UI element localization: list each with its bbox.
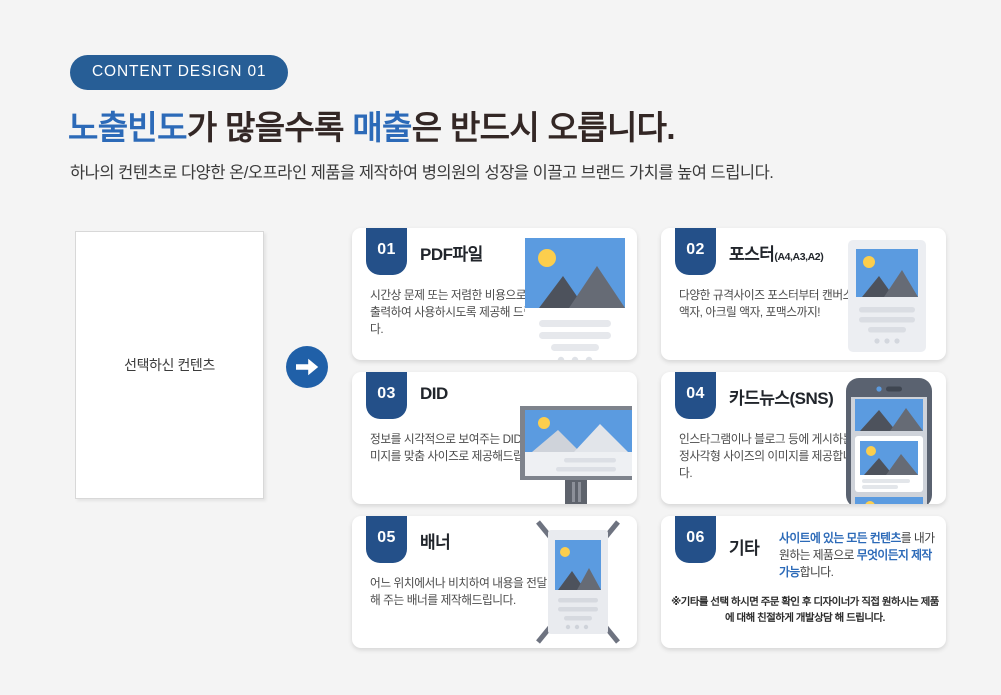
product-card-grid: 01 PDF파일 시간상 문제 또는 저렴한 비용으로 직접 출력하여 사용하시… — [352, 228, 946, 648]
page-subtitle: 하나의 컨텐츠로 다양한 온/오프라인 제품을 제작하여 병의원의 성장을 이끌… — [70, 159, 773, 183]
headline-plain: 은 반드시 오릅니다. — [412, 109, 675, 146]
product-card-02[interactable]: 02 포스터(A4,A3,A2) 다양한 규격사이즈 포스터부터 캔버스 액자,… — [661, 228, 946, 360]
card-title-main: 포스터 — [729, 245, 774, 264]
selected-content-label: 선택하신 컨텐츠 — [76, 355, 263, 375]
product-card-05[interactable]: 05 배너 어느 위치에서나 비치하여 내용을 전달해 주는 배너를 제작해드립… — [352, 516, 637, 648]
headline-plain: 가 많을수록 — [187, 109, 353, 146]
card-highlight-text: 사이트에 있는 모든 컨텐츠를 내가 원하는 제품으로 무엇이든지 제작 가능합… — [779, 530, 939, 580]
product-card-01[interactable]: 01 PDF파일 시간상 문제 또는 저렴한 비용으로 직접 출력하여 사용하시… — [352, 228, 637, 360]
smartphone-icon — [846, 378, 944, 504]
card-description: 인스타그램이나 블로그 등에 게시하는 정사각형 사이즈의 이미지를 제공합니다… — [679, 432, 864, 483]
selected-content-panel: 선택하신 컨텐츠 — [75, 231, 264, 499]
poster-icon — [848, 240, 926, 357]
banner-stand-icon — [530, 516, 626, 648]
monitor-icon — [520, 406, 637, 504]
card-number-badge: 03 — [366, 372, 407, 419]
card-title: DID — [420, 384, 448, 404]
card-title: 배너 — [420, 528, 450, 553]
card-number-badge: 04 — [675, 372, 716, 419]
headline-highlight: 노출빈도 — [68, 109, 187, 146]
content-design-badge: CONTENT DESIGN 01 — [70, 55, 288, 90]
image-placeholder-icon — [525, 238, 625, 360]
card-number-badge: 06 — [675, 516, 716, 563]
card-title: 포스터(A4,A3,A2) — [729, 240, 823, 265]
card-description: 어느 위치에서나 비치하여 내용을 전달해 주는 배너를 제작해드립니다. — [370, 576, 555, 610]
card-title: PDF파일 — [420, 240, 483, 265]
page-title: 노출빈도가 많을수록 매출은 반드시 오릅니다. — [68, 101, 675, 149]
product-card-03[interactable]: 03 DID 정보를 시각적으로 보여주는 DID의 이미지를 맞춤 사이즈로 … — [352, 372, 637, 504]
card-title: 기타 — [729, 534, 759, 559]
card-number-badge: 02 — [675, 228, 716, 275]
arrow-right-circle-icon — [286, 346, 328, 388]
product-card-04[interactable]: 04 카드뉴스(SNS) 인스타그램이나 블로그 등에 게시하는 정사각형 사이… — [661, 372, 946, 504]
headline-highlight: 매출 — [352, 109, 411, 146]
card-number-badge: 01 — [366, 228, 407, 275]
card-description: 다양한 규격사이즈 포스터부터 캔버스 액자, 아크릴 액자, 포맥스까지! — [679, 288, 864, 322]
product-card-06[interactable]: 06 기타 사이트에 있는 모든 컨텐츠를 내가 원하는 제품으로 무엇이든지 … — [661, 516, 946, 648]
card-number-badge: 05 — [366, 516, 407, 563]
card-title-suffix: (A4,A3,A2) — [774, 251, 823, 263]
card-note: ※기타를 선택 하시면 주문 확인 후 디자이너가 직접 원하시는 제품에 대해… — [671, 595, 939, 626]
card-title: 카드뉴스(SNS) — [729, 384, 833, 409]
